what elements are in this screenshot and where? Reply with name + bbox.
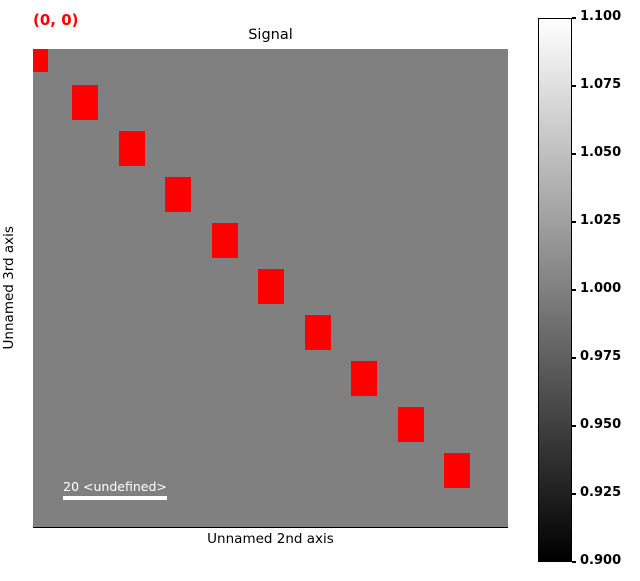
colorbar-tick-label: 0.900 [580, 554, 621, 567]
colorbar-tick-label: 1.050 [580, 146, 621, 159]
colorbar-tick-mark [572, 153, 576, 155]
scale-bar: 20 <undefined> [50, 481, 180, 501]
colorbar[interactable]: 1.1001.0751.0501.0251.0000.9750.9500.925… [538, 18, 572, 562]
colorbar-tick-mark [572, 221, 576, 223]
signal-marker [351, 361, 377, 396]
colorbar-tick-label: 0.950 [580, 418, 621, 431]
signal-marker [305, 315, 331, 350]
colorbar-tick-mark [572, 425, 576, 427]
scale-bar-line [63, 496, 167, 500]
colorbar-tick-label: 1.100 [580, 10, 621, 23]
signal-marker [258, 269, 284, 304]
colorbar-tick-label: 0.975 [580, 350, 621, 363]
signal-marker [212, 223, 238, 258]
colorbar-gradient [538, 18, 572, 562]
scale-bar-label: 20 <undefined> [50, 481, 180, 494]
page-title: Signal [33, 28, 508, 43]
x-axis-label: Unnamed 2nd axis [33, 533, 508, 547]
colorbar-tick-label: 1.025 [580, 214, 621, 227]
colorbar-tick-mark [572, 289, 576, 291]
y-axis-label-text: Unnamed 3rd axis [3, 226, 17, 349]
colorbar-tick-mark [572, 493, 576, 495]
signal-marker [165, 177, 191, 212]
signal-image-plot[interactable]: 20 <undefined> [33, 49, 508, 528]
coordinate-annotation: (0, 0) [33, 13, 79, 28]
signal-marker [444, 453, 470, 488]
y-axis-label: Unnamed 3rd axis [0, 49, 20, 527]
colorbar-tick-label: 1.000 [580, 282, 621, 295]
signal-marker [72, 85, 98, 120]
colorbar-tick-label: 1.075 [580, 78, 621, 91]
colorbar-tick-mark [572, 85, 576, 87]
signal-marker [119, 131, 145, 166]
signal-marker [33, 49, 48, 72]
colorbar-tick-mark [572, 17, 576, 19]
colorbar-tick-label: 0.925 [580, 486, 621, 499]
signal-marker [398, 407, 424, 442]
colorbar-tick-mark [572, 357, 576, 359]
colorbar-tick-mark [572, 561, 576, 563]
